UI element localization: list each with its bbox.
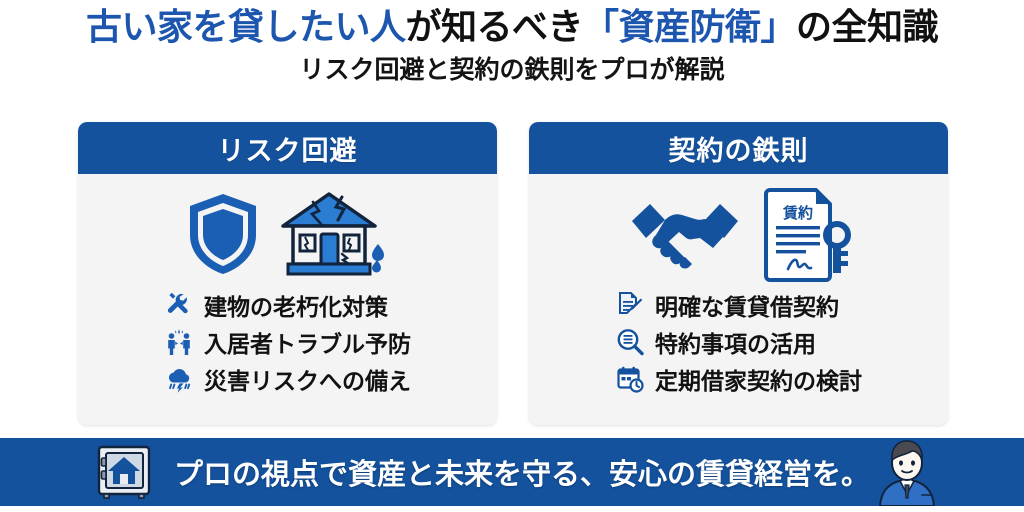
- contract-key-icon: 賃約: [762, 185, 852, 283]
- list-item: 明確な賃貸借契約: [615, 288, 862, 322]
- card-risk-avoidance: リスク回避: [78, 122, 497, 425]
- list-item-label: 明確な賃貸借契約: [655, 288, 839, 322]
- list-item: 災害リスクへの備え: [164, 362, 411, 396]
- magnifier-doc-icon: [615, 327, 645, 357]
- businessman-avatar: [870, 438, 944, 506]
- list-item: 定期借家契約の検討: [615, 362, 862, 396]
- infographic-canvas: 古い家を貸したい人が知るべき「資産防衛」の全知識 リスク回避と契約の鉄則をプロが…: [0, 0, 1024, 512]
- card-header-contract: 契約の鉄則: [529, 122, 948, 174]
- page-title-highlight-1: 古い家を貸したい人: [86, 6, 406, 47]
- card-items-contract: 明確な賃貸借契約 特約事項の活用: [615, 288, 862, 396]
- list-item-label: 災害リスクへの備え: [204, 362, 411, 396]
- page-title-plain-2: の全知識: [796, 6, 938, 47]
- page-title-highlight-2: 「資産防衛」: [583, 6, 796, 47]
- list-item: 建物の老朽化対策: [164, 288, 411, 322]
- page-title: 古い家を貸したい人が知るべき「資産防衛」の全知識: [0, 6, 1024, 48]
- card-header-label: 契約の鉄則: [669, 129, 809, 168]
- bottom-banner: プロの視点で資産と未来を守る、安心の賃貸経営を。: [0, 438, 1024, 506]
- document-pen-icon: [615, 290, 645, 320]
- list-item-label: 入居者トラブル予防: [204, 325, 411, 359]
- list-item-label: 特約事項の活用: [655, 325, 816, 359]
- list-item: 入居者トラブル予防: [164, 325, 411, 359]
- card-header-risk: リスク回避: [78, 122, 497, 174]
- page-subtitle: リスク回避と契約の鉄則をプロが解説: [0, 55, 1024, 85]
- card-body-contract: 賃約: [529, 174, 948, 425]
- card-icon-row-contract: 賃約: [626, 182, 852, 286]
- list-item-label: 定期借家契約の検討: [655, 362, 862, 396]
- card-contract-rules: 契約の鉄則: [529, 122, 948, 425]
- contract-doc-label: 賃約: [781, 204, 812, 222]
- list-item-label: 建物の老朽化対策: [204, 288, 388, 322]
- banner-text: プロの視点で資産と未来を守る、安心の賃貸経営を。: [174, 451, 870, 493]
- calendar-clock-icon: [615, 364, 645, 394]
- card-header-label: リスク回避: [218, 129, 358, 168]
- card-body-risk: 建物の老朽化対策: [78, 174, 497, 425]
- shield-icon: [185, 191, 261, 277]
- list-item: 特約事項の活用: [615, 325, 862, 359]
- card-items-risk: 建物の老朽化対策: [164, 288, 411, 396]
- handshake-icon: [626, 191, 744, 277]
- wrench-screwdriver-icon: [164, 290, 194, 320]
- storm-cloud-icon: [164, 364, 194, 394]
- cracked-house-icon: [279, 188, 391, 280]
- card-icon-row-risk: [185, 182, 391, 286]
- safe-house-icon: [96, 444, 152, 500]
- title-block: 古い家を貸したい人が知るべき「資産防衛」の全知識 リスク回避と契約の鉄則をプロが…: [0, 6, 1024, 85]
- people-conflict-icon: [164, 327, 194, 357]
- cards-container: リスク回避: [78, 122, 948, 425]
- page-title-plain-1: が知るべき: [405, 6, 583, 47]
